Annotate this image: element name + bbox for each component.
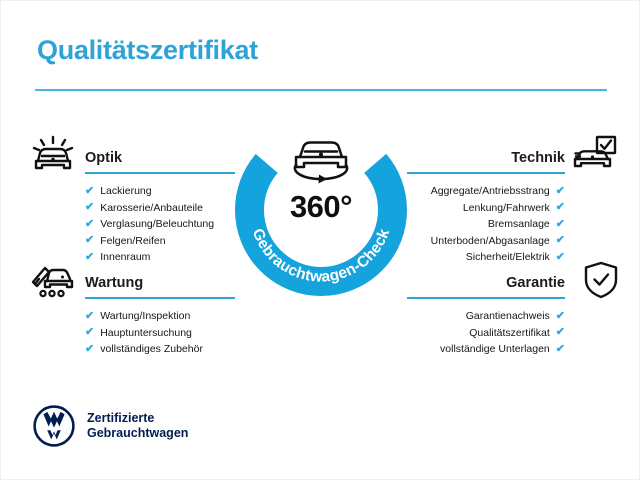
section-wartung-divider <box>85 297 235 299</box>
list-item: ✔ Verglasung/Beleuchtung <box>85 216 235 233</box>
list-item: vollständige Unterlagen ✔ <box>407 341 565 358</box>
list-item: Bremsanlage ✔ <box>407 216 565 233</box>
page-title: Qualitätszertifikat <box>37 35 258 66</box>
check-icon: ✔ <box>556 327 565 338</box>
check-icon: ✔ <box>85 311 94 322</box>
footer-text: Zertifizierte Gebrauchtwagen <box>87 411 188 442</box>
list-item: ✔ Lackierung <box>85 183 235 200</box>
section-technik-title: Technik <box>511 150 565 166</box>
list-item: ✔ Innenraum <box>85 249 235 266</box>
list-item-label: Hauptuntersuchung <box>100 325 192 342</box>
list-item-label: Unterboden/Abgasanlage <box>431 233 550 250</box>
check-icon: ✔ <box>85 235 94 246</box>
vw-logo <box>33 405 75 447</box>
360-check-badge: Gebrauchtwagen-Check 360° <box>232 121 410 299</box>
check-icon: ✔ <box>556 219 565 230</box>
section-wartung-list: ✔ Wartung/Inspektion ✔ Hauptuntersuchung… <box>85 308 235 358</box>
check-icon: ✔ <box>556 202 565 213</box>
list-item-label: Bremsanlage <box>488 216 550 233</box>
section-wartung-title: Wartung <box>85 275 143 291</box>
list-item: ✔ Hauptuntersuchung <box>85 325 235 342</box>
list-item-label: Karosserie/Anbauteile <box>100 200 203 217</box>
list-item-label: Sicherheit/Elektrik <box>466 249 550 266</box>
check-icon: ✔ <box>85 327 94 338</box>
list-item-label: Felgen/Reifen <box>100 233 165 250</box>
list-item: ✔ Felgen/Reifen <box>85 233 235 250</box>
section-optik-title: Optik <box>85 150 122 166</box>
section-optik-header: Optik <box>85 140 235 174</box>
list-item-label: vollständige Unterlagen <box>440 341 550 358</box>
section-optik-list: ✔ Lackierung ✔ Karosserie/Anbauteile ✔ V… <box>85 183 235 266</box>
wrench-car-icon <box>29 260 77 300</box>
list-item: ✔ Wartung/Inspektion <box>85 308 235 325</box>
shield-check-icon <box>577 260 625 300</box>
car-checkbox-icon <box>571 135 619 175</box>
list-item: Aggregate/Antriebsstrang ✔ <box>407 183 565 200</box>
list-item-label: Lenkung/Fahrwerk <box>463 200 550 217</box>
section-optik-divider <box>85 172 235 174</box>
list-item: Unterboden/Abgasanlage ✔ <box>407 233 565 250</box>
list-item-label: Innenraum <box>100 249 150 266</box>
section-garantie-title: Garantie <box>506 275 565 291</box>
check-icon: ✔ <box>556 344 565 355</box>
check-icon: ✔ <box>556 252 565 263</box>
list-item: Sicherheit/Elektrik ✔ <box>407 249 565 266</box>
section-wartung: Wartung ✔ Wartung/Inspektion ✔ Hauptunte… <box>85 265 235 358</box>
list-item: ✔ vollständiges Zubehör <box>85 341 235 358</box>
list-item-label: Garantienachweis <box>466 308 550 325</box>
car-shine-icon <box>29 135 77 175</box>
list-item-label: vollständiges Zubehör <box>100 341 203 358</box>
check-icon: ✔ <box>85 202 94 213</box>
section-technik-header: Technik <box>407 140 565 174</box>
list-item-label: Lackierung <box>100 183 151 200</box>
list-item-label: Aggregate/Antriebsstrang <box>431 183 550 200</box>
list-item: Garantienachweis ✔ <box>407 308 565 325</box>
footer-line-2: Gebrauchtwagen <box>87 426 188 442</box>
list-item-label: Qualitätszertifikat <box>469 325 550 342</box>
check-icon: ✔ <box>556 235 565 246</box>
section-technik: Technik Aggregate/Antriebsstrang ✔ Lenku… <box>407 140 565 266</box>
quality-certificate-sheet: Qualitätszertifikat Optik <box>0 0 640 480</box>
check-icon: ✔ <box>85 219 94 230</box>
list-item: ✔ Karosserie/Anbauteile <box>85 200 235 217</box>
title-divider <box>35 89 607 91</box>
footer-brand: Zertifizierte Gebrauchtwagen <box>33 405 188 447</box>
list-item-label: Verglasung/Beleuchtung <box>100 216 214 233</box>
section-wartung-header: Wartung <box>85 265 235 299</box>
section-garantie-header: Garantie <box>407 265 565 299</box>
check-icon: ✔ <box>85 344 94 355</box>
section-garantie-list: Garantienachweis ✔ Qualitätszertifikat ✔… <box>407 308 565 358</box>
list-item: Lenkung/Fahrwerk ✔ <box>407 200 565 217</box>
list-item-label: Wartung/Inspektion <box>100 308 190 325</box>
check-icon: ✔ <box>85 186 94 197</box>
check-icon: ✔ <box>85 252 94 263</box>
section-optik: Optik ✔ Lackierung ✔ Karosserie/Anbautei… <box>85 140 235 266</box>
list-item: Qualitätszertifikat ✔ <box>407 325 565 342</box>
check-icon: ✔ <box>556 311 565 322</box>
section-garantie: Garantie Garantienachweis ✔ Qualitätszer… <box>407 265 565 358</box>
check-icon: ✔ <box>556 186 565 197</box>
section-technik-list: Aggregate/Antriebsstrang ✔ Lenkung/Fahrw… <box>407 183 565 266</box>
section-garantie-divider <box>407 297 565 299</box>
footer-line-1: Zertifizierte <box>87 411 188 427</box>
section-technik-divider <box>407 172 565 174</box>
